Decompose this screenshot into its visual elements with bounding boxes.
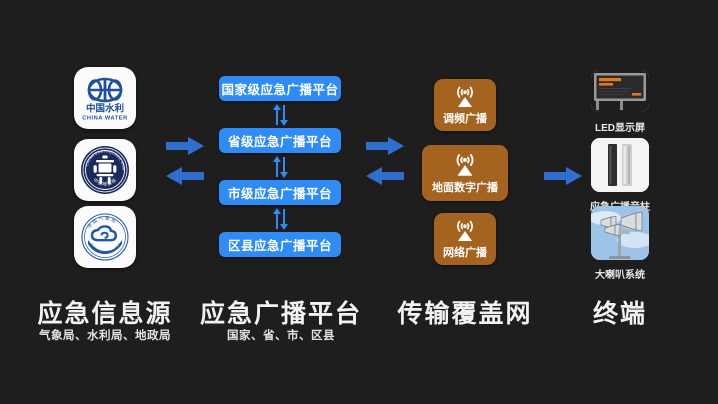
arrow-up-down-icon bbox=[272, 208, 290, 230]
transmission-box-terrestrial-digital[interactable]: 地面数字广播 bbox=[422, 145, 508, 201]
platform-link-municipal-district bbox=[272, 208, 290, 230]
china-earthquake-administration-logo: CHINA EARTHQUAKE ADMINISTRATION 中国地震局 bbox=[76, 141, 134, 199]
platform-box-provincial[interactable]: 省级应急广播平台 bbox=[219, 128, 341, 153]
china-meteorological-administration-logo: 中国气象局 CHINA METEOROLOGICAL ADMINISTRATIO… bbox=[76, 208, 134, 266]
terminal-image-led-display bbox=[591, 70, 649, 112]
platform-box-label: 国家级应急广播平台 bbox=[221, 79, 338, 98]
section-title-terminal: 终端 bbox=[500, 294, 718, 330]
slide-canvas: 中国水利 CHINA WATER CHINA EARTHQUAKE ADMINI… bbox=[0, 0, 718, 404]
platform-box-label: 省级应急广播平台 bbox=[228, 131, 332, 150]
broadcast-tower-icon bbox=[450, 218, 480, 242]
led-display-screen-icon bbox=[591, 70, 649, 112]
platform-box-district[interactable]: 区县应急广播平台 bbox=[219, 232, 341, 257]
terminal-image-speaker-column bbox=[591, 138, 649, 192]
svg-text:中国水利: 中国水利 bbox=[86, 103, 124, 115]
connector-arrow-right-sources-to-platforms bbox=[164, 136, 206, 161]
transmission-box-network-broadcast[interactable]: 网络广播 bbox=[434, 213, 496, 265]
platform-box-national[interactable]: 国家级应急广播平台 bbox=[219, 76, 341, 101]
arrow-right-icon bbox=[542, 166, 584, 186]
platform-box-municipal[interactable]: 市级应急广播平台 bbox=[219, 180, 341, 205]
transmission-box-fm-broadcast[interactable]: 调频广播 bbox=[434, 79, 496, 131]
transmission-box-label: 调频广播 bbox=[443, 110, 487, 126]
connector-arrow-right-transmission-to-terminals bbox=[542, 166, 584, 191]
platform-link-national-provincial bbox=[272, 104, 290, 126]
arrow-left-icon bbox=[364, 166, 406, 186]
terminal-label-led-display: LED显示屏 bbox=[560, 119, 680, 134]
arrow-right-icon bbox=[164, 136, 206, 156]
transmission-box-label: 网络广播 bbox=[443, 244, 487, 260]
china-water-logo: 中国水利 CHINA WATER bbox=[76, 69, 134, 127]
source-logo-china-water: 中国水利 CHINA WATER bbox=[74, 67, 136, 129]
connector-arrow-left-platforms-to-sources bbox=[164, 166, 206, 191]
arrow-left-icon bbox=[164, 166, 206, 186]
transmission-box-label: 地面数字广播 bbox=[432, 179, 498, 195]
platform-box-label: 市级应急广播平台 bbox=[228, 183, 332, 202]
arrow-right-icon bbox=[364, 136, 406, 156]
horn-loudspeaker-system-icon bbox=[591, 206, 649, 260]
broadcast-tower-icon bbox=[450, 84, 480, 108]
arrow-up-down-icon bbox=[272, 104, 290, 126]
terminal-label-horn-loudspeaker: 大喇叭系统 bbox=[560, 266, 680, 281]
speaker-column-icon bbox=[591, 138, 649, 192]
terminal-image-horn-loudspeaker bbox=[591, 206, 649, 260]
broadcast-tower-icon bbox=[449, 151, 481, 177]
arrow-up-down-icon bbox=[272, 156, 290, 178]
source-logo-meteorological-administration: 中国气象局 CHINA METEOROLOGICAL ADMINISTRATIO… bbox=[74, 206, 136, 268]
connector-arrow-left-transmission-to-platforms bbox=[364, 166, 406, 191]
connector-arrow-right-platforms-to-transmission bbox=[364, 136, 406, 161]
svg-text:CHINA WATER: CHINA WATER bbox=[82, 116, 127, 122]
platform-link-provincial-municipal bbox=[272, 156, 290, 178]
source-logo-earthquake-administration: CHINA EARTHQUAKE ADMINISTRATION 中国地震局 bbox=[74, 139, 136, 201]
platform-box-label: 区县应急广播平台 bbox=[228, 235, 332, 254]
